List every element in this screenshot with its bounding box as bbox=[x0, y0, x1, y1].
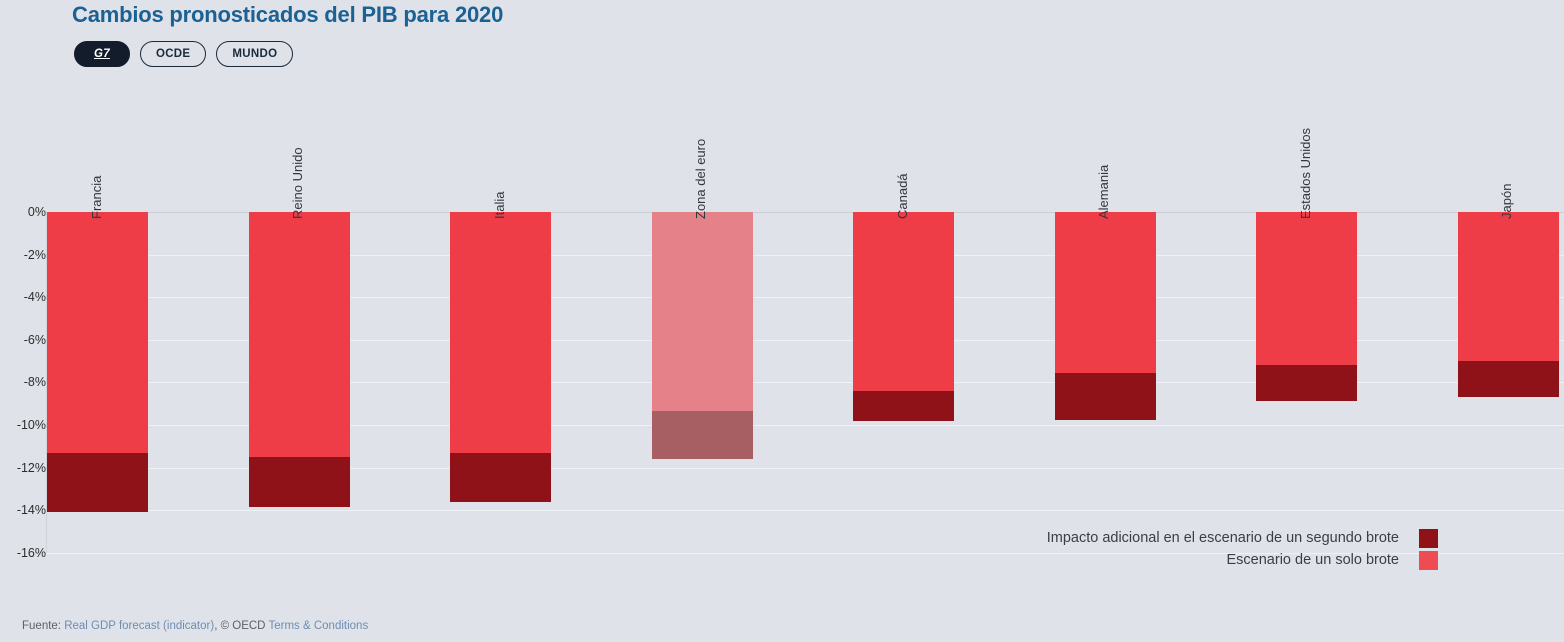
source-link-terms-conditions[interactable]: Terms & Conditions bbox=[268, 620, 368, 632]
y-axis-tick-label: -12% bbox=[6, 461, 46, 475]
bar-segment-second-outbreak[interactable] bbox=[1458, 361, 1559, 397]
y-axis-tick-label: -10% bbox=[6, 418, 46, 432]
legend-swatch-single-outbreak bbox=[1419, 551, 1438, 570]
category-label-italia: Italia bbox=[492, 192, 507, 219]
bar-segment-single-outbreak[interactable] bbox=[249, 212, 350, 457]
bar-italia[interactable] bbox=[450, 212, 551, 502]
source-footer: Fuente: Real GDP forecast (indicator), ©… bbox=[22, 620, 368, 632]
chart-plot-area: 0%-2%-4%-6%-8%-10%-12%-14%-16% FranciaRe… bbox=[0, 0, 1564, 600]
bar-segment-single-outbreak[interactable] bbox=[1458, 212, 1559, 361]
y-axis-tick-label: 0% bbox=[6, 205, 46, 219]
legend-label: Impacto adicional en el escenario de un … bbox=[1047, 530, 1399, 546]
y-axis-tick-label: -8% bbox=[6, 375, 46, 389]
bar-reino-unido[interactable] bbox=[249, 212, 350, 507]
legend-swatch-second-outbreak bbox=[1419, 529, 1438, 548]
bar-canadá[interactable] bbox=[853, 212, 954, 421]
bar-alemania[interactable] bbox=[1055, 212, 1156, 420]
bar-japón[interactable] bbox=[1458, 212, 1559, 397]
category-label-japón: Japón bbox=[1499, 184, 1514, 219]
source-middle: , © OECD bbox=[214, 620, 265, 632]
category-label-alemania: Alemania bbox=[1096, 165, 1111, 219]
y-axis-tick-label: -2% bbox=[6, 248, 46, 262]
category-label-francia: Francia bbox=[89, 176, 104, 219]
bar-segment-single-outbreak[interactable] bbox=[47, 212, 148, 453]
category-label-estados-unidos: Estados Unidos bbox=[1298, 128, 1313, 219]
bar-segment-single-outbreak[interactable] bbox=[1256, 212, 1357, 365]
y-axis-tick-label: -16% bbox=[6, 546, 46, 560]
bar-segment-second-outbreak[interactable] bbox=[450, 453, 551, 502]
bar-francia[interactable] bbox=[47, 212, 148, 512]
bar-segment-single-outbreak[interactable] bbox=[652, 212, 753, 411]
source-prefix: Fuente: bbox=[22, 620, 61, 632]
bar-zona-del-euro[interactable] bbox=[652, 212, 753, 459]
category-label-canadá: Canadá bbox=[895, 173, 910, 219]
source-link-real-gdp-forecast[interactable]: Real GDP forecast (indicator) bbox=[64, 620, 214, 632]
legend-item[interactable]: Escenario de un solo brote bbox=[1047, 549, 1438, 571]
bar-segment-second-outbreak[interactable] bbox=[249, 457, 350, 507]
chart-legend: Impacto adicional en el escenario de un … bbox=[1047, 527, 1438, 571]
y-axis-tick-label: -14% bbox=[6, 503, 46, 517]
bar-estados-unidos[interactable] bbox=[1256, 212, 1357, 401]
y-axis-tick-label: -4% bbox=[6, 290, 46, 304]
bar-segment-second-outbreak[interactable] bbox=[47, 453, 148, 513]
legend-label: Escenario de un solo brote bbox=[1227, 552, 1400, 568]
bar-segment-single-outbreak[interactable] bbox=[450, 212, 551, 453]
category-label-reino-unido: Reino Unido bbox=[290, 147, 305, 219]
bar-segment-second-outbreak[interactable] bbox=[652, 411, 753, 459]
gridline bbox=[46, 510, 1564, 511]
bar-segment-second-outbreak[interactable] bbox=[1055, 373, 1156, 420]
y-axis-tick-label: -6% bbox=[6, 333, 46, 347]
bar-segment-second-outbreak[interactable] bbox=[1256, 365, 1357, 400]
legend-item[interactable]: Impacto adicional en el escenario de un … bbox=[1047, 527, 1438, 549]
bar-segment-single-outbreak[interactable] bbox=[853, 212, 954, 391]
bar-segment-single-outbreak[interactable] bbox=[1055, 212, 1156, 373]
bar-segment-second-outbreak[interactable] bbox=[853, 391, 954, 421]
category-label-zona-del-euro: Zona del euro bbox=[693, 139, 708, 219]
